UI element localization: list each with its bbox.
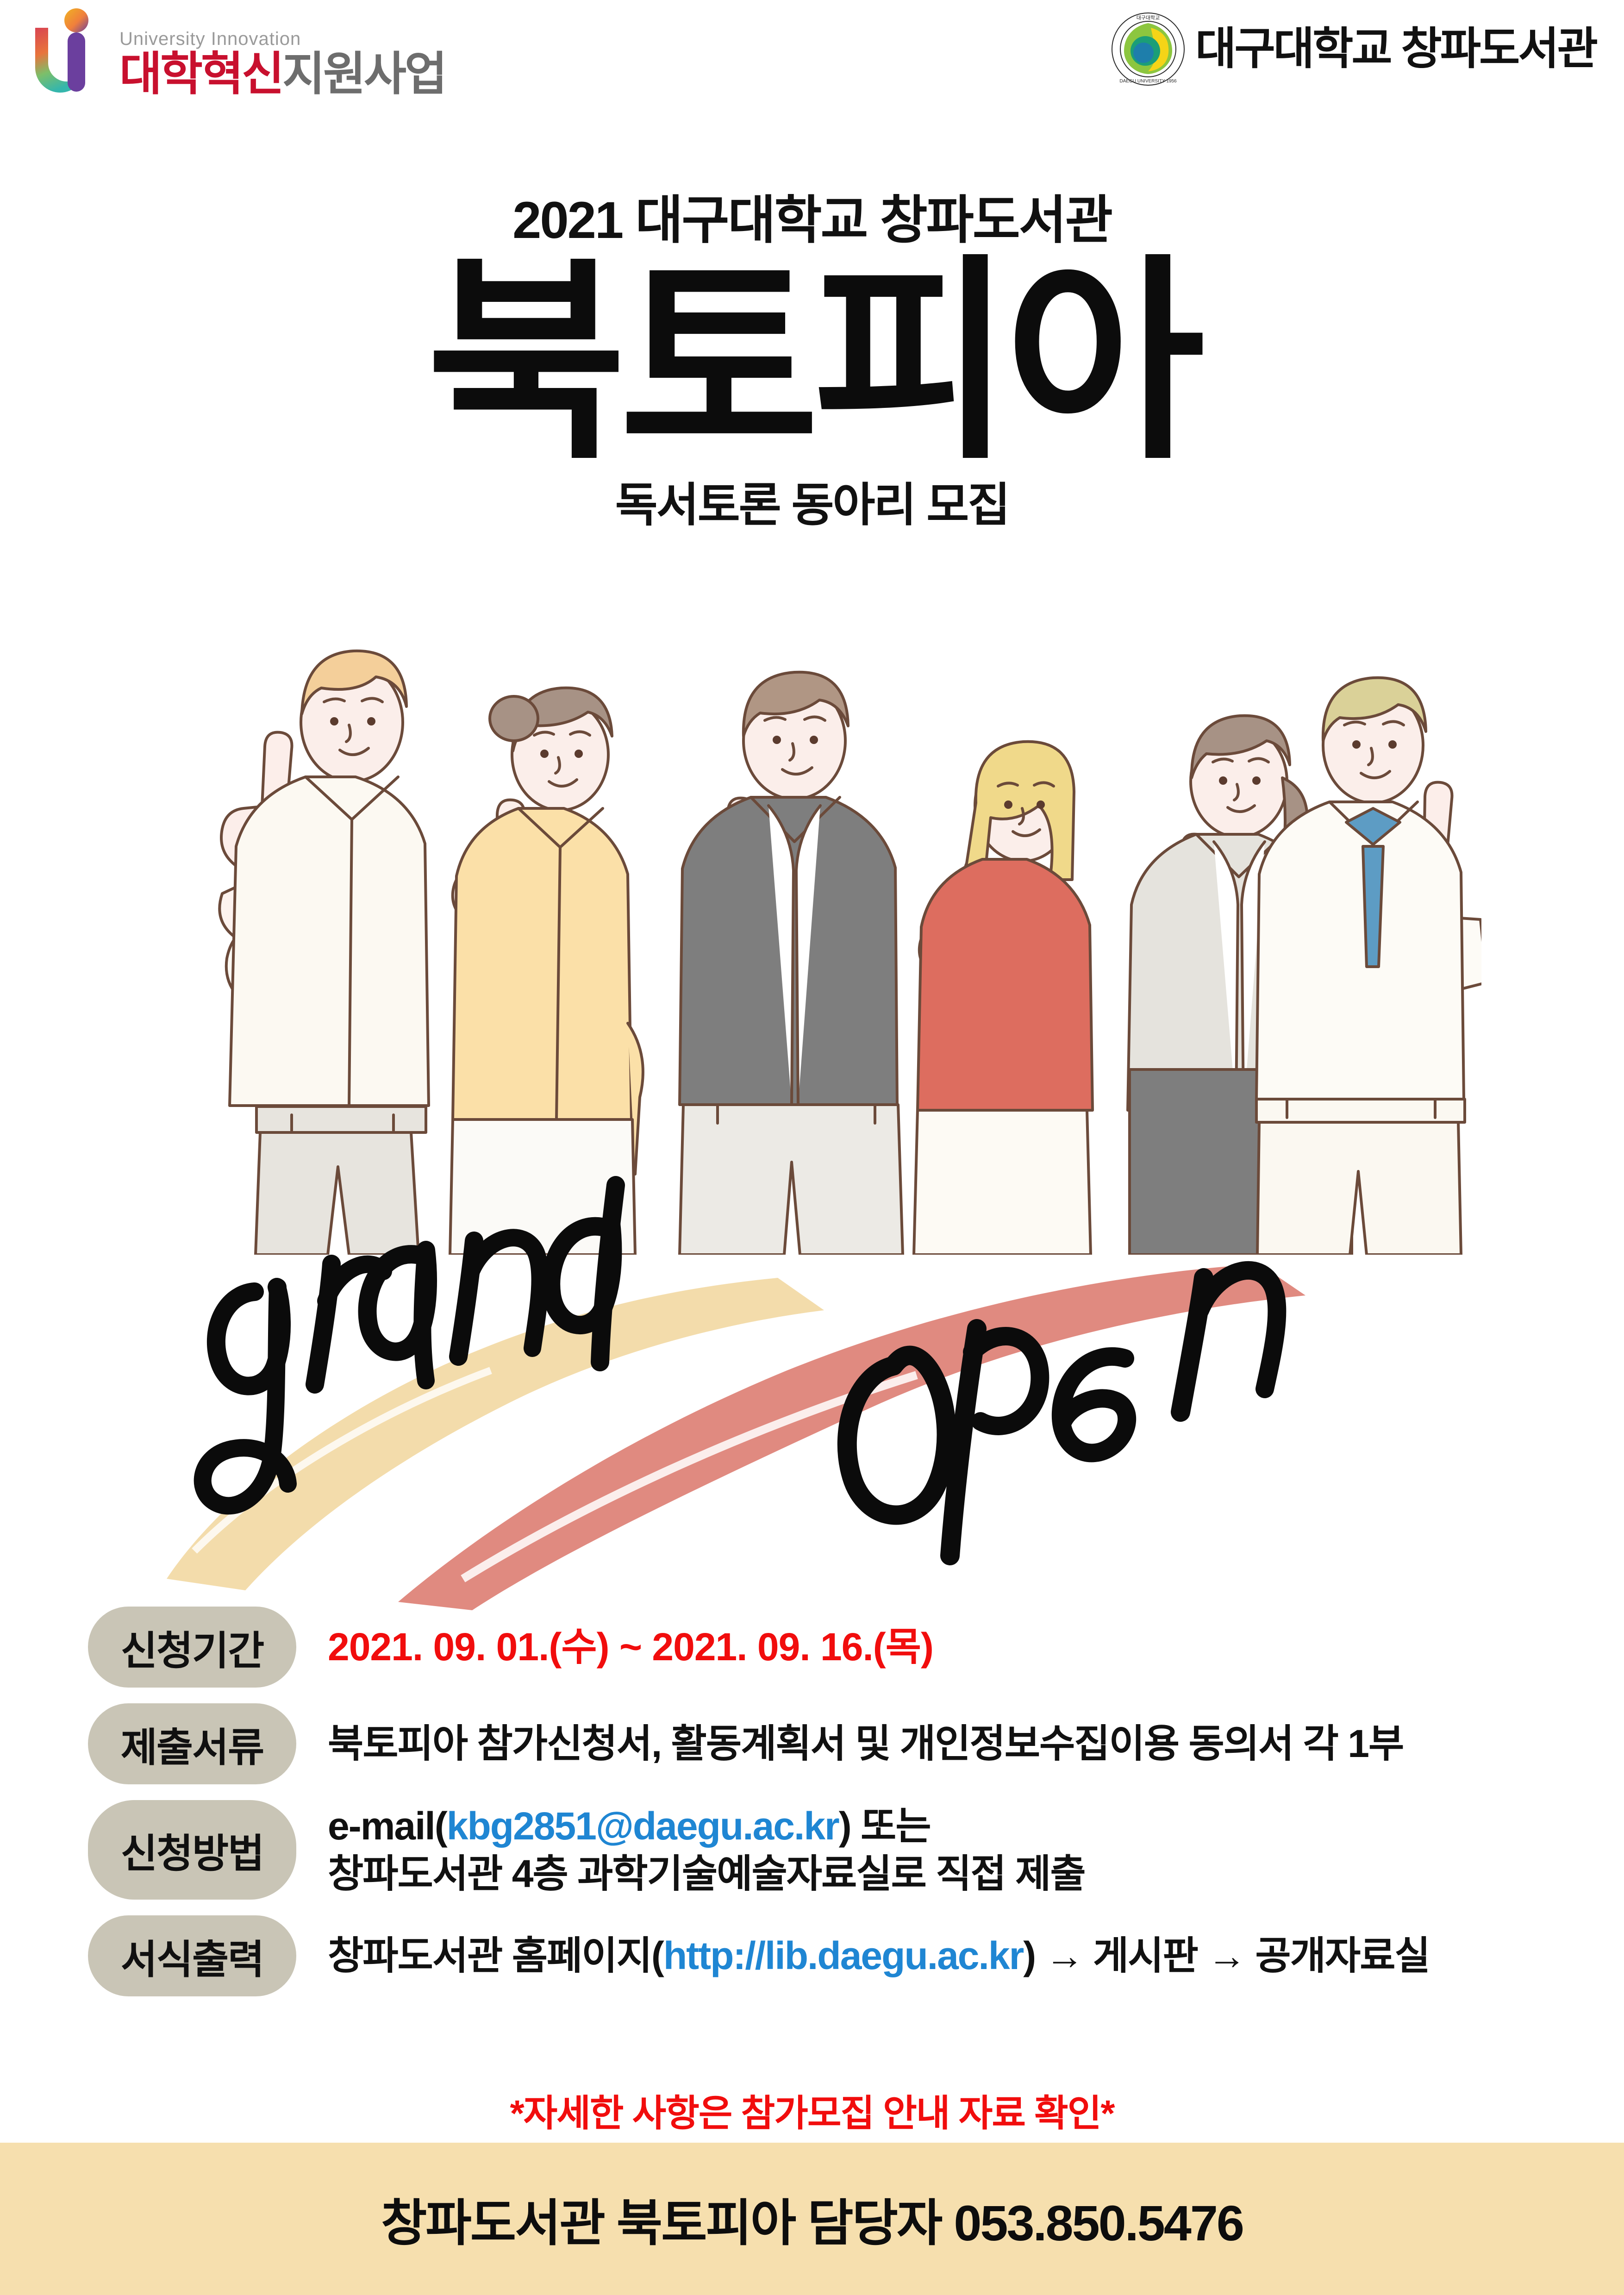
info-value-form-download: 창파도서관 홈페이지(http://lib.daegu.ac.kr) → 게시판… [328, 1932, 1430, 1979]
poster-header: University Innovation 대학혁신지원사업 대구대학교 DAE… [0, 0, 1624, 120]
six-people-thumbs-up-illustration [153, 607, 1481, 1255]
title-block: 2021 대구대학교 창파도서관 북토피아 독서토론 동아리 모집 [0, 194, 1624, 528]
info-value-documents: 북토피아 참가신청서, 활동계획서 및 개인정보수집이용 동의서 각 1부 [328, 1720, 1403, 1767]
info-label-application-method: 신청방법 [88, 1800, 296, 1900]
email-suffix-text: ) 또는 [839, 1804, 931, 1848]
info-row-application-method: 신청방법 e-mail(kbg2851@daegu.ac.kr) 또는 창파도서… [0, 1800, 1624, 1900]
footer-band: 창파도서관 북토피아 담당자 053.850.5476 [0, 2143, 1624, 2295]
university-innovation-logo: University Innovation 대학혁신지원사업 [28, 8, 445, 101]
info-label-documents: 제출서류 [88, 1703, 296, 1784]
info-label-form-download: 서식출력 [88, 1915, 296, 1996]
title-subtitle: 독서토론 동아리 모집 [0, 482, 1624, 528]
info-row-form-download: 서식출력 창파도서관 홈페이지(http://lib.daegu.ac.kr) … [0, 1915, 1624, 1996]
ui-logo-text: University Innovation 대학혁신지원사업 [119, 8, 445, 101]
info-row-application-period: 신청기간 2021. 09. 01.(수) ~ 2021. 09. 16.(목) [0, 1607, 1624, 1688]
grand-open-brush-lettering [139, 1171, 1509, 1611]
notice-text: *자세한 사항은 참가모집 안내 자료 확인* [0, 2083, 1624, 2137]
footer-contact-text: 창파도서관 북토피아 담당자 053.850.5476 [381, 2183, 1243, 2255]
info-value-application-period: 2021. 09. 01.(수) ~ 2021. 09. 16.(목) [328, 1623, 933, 1670]
email-prefix-text: e-mail( [328, 1804, 447, 1848]
info-value-line: e-mail(kbg2851@daegu.ac.kr) 또는 [328, 1802, 1085, 1850]
email-link[interactable]: kbg2851@daegu.ac.kr [447, 1804, 839, 1848]
ui-logo-korean-red: 대학혁신 [119, 48, 282, 100]
ui-logo-korean: 대학혁신지원사업 [119, 51, 445, 97]
ui-wordmark-icon [28, 8, 111, 101]
homepage-prefix-text: 창파도서관 홈페이지( [328, 1934, 663, 1977]
info-section: 신청기간 2021. 09. 01.(수) ~ 2021. 09. 16.(목)… [0, 1607, 1624, 2012]
svg-text:대구대학교: 대구대학교 [1137, 15, 1160, 21]
info-value-line: 창파도서관 4층 과학기술예술자료실로 직접 제출 [328, 1850, 1085, 1897]
homepage-suffix-text: ) → 게시판 → 공개자료실 [1023, 1934, 1430, 1977]
daegu-university-emblem-icon: 대구대학교 DAEGU UNIVERSITY 1956 [1111, 12, 1185, 86]
daegu-university-library-logo: 대구대학교 DAEGU UNIVERSITY 1956 대구대학교 창파도서관 [1111, 12, 1596, 86]
title-kicker: 2021 대구대학교 창파도서관 [0, 194, 1624, 246]
info-label-application-period: 신청기간 [88, 1607, 296, 1688]
ui-logo-english: University Innovation [119, 30, 445, 48]
svg-text:DAEGU UNIVERSITY 1956: DAEGU UNIVERSITY 1956 [1120, 79, 1177, 84]
info-value-application-method: e-mail(kbg2851@daegu.ac.kr) 또는 창파도서관 4층 … [328, 1802, 1085, 1897]
page-title: 북토피아 [0, 259, 1624, 466]
ui-logo-korean-gray: 지원사업 [282, 48, 445, 100]
info-row-documents: 제출서류 북토피아 참가신청서, 활동계획서 및 개인정보수집이용 동의서 각 … [0, 1703, 1624, 1784]
library-name: 대구대학교 창파도서관 [1195, 27, 1596, 71]
homepage-link[interactable]: http://lib.daegu.ac.kr [663, 1934, 1023, 1977]
